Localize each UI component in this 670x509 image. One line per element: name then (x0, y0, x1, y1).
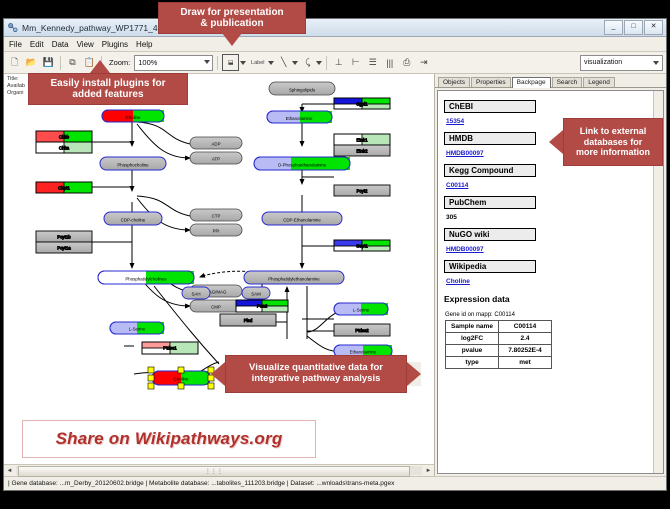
side-panel-tabs: Objects Properties Backpage Search Legen… (435, 74, 666, 88)
expr-val-type: met (499, 357, 552, 369)
expression-data-title: Expression data (444, 294, 647, 304)
svg-text:Ptdss2: Ptdss2 (355, 328, 369, 333)
db-header-wikipedia: Wikipedia (444, 260, 536, 273)
db-link-nugowiki[interactable]: HMDB00097 (446, 246, 647, 253)
svg-text:PPi: PPi (213, 229, 220, 234)
callout-plugins: Easily install plugins for added feature… (28, 73, 188, 105)
export-icon[interactable]: ⇥ (416, 55, 431, 70)
db-header-chebi: ChEBI (444, 100, 536, 113)
expr-key-sample: Sample name (446, 321, 499, 333)
svg-text:O-Phosphoethanolamine: O-Phosphoethanolamine (278, 163, 327, 168)
window-titlebar: Mm_Kennedy_pathway_WP1771_45176.gpml _ □… (4, 19, 666, 37)
zoom-select[interactable]: 100% (134, 55, 213, 71)
pathway-editor-pane: Title: Availab Organi (4, 74, 435, 476)
distribute-icon[interactable]: ||| (382, 55, 397, 70)
callout-link: Link to external databases for more info… (563, 118, 663, 166)
stack-icon[interactable]: ☰ (365, 55, 380, 70)
datanode-icon[interactable]: ⬓ (222, 54, 239, 71)
db-link-kegg[interactable]: C00114 (446, 182, 647, 189)
status-text: | Gene database: ...m_Derby_20120602.bri… (8, 480, 394, 487)
callout-draw: Draw for presentation & publication (158, 2, 306, 34)
svg-text:Sphingolipids: Sphingolipids (289, 88, 316, 93)
callout-visualize: Visualize quantitative data for integrat… (225, 355, 407, 393)
menu-data[interactable]: Data (52, 40, 69, 49)
label-icon[interactable]: Label (248, 55, 267, 70)
svg-text:Phosphocholine: Phosphocholine (117, 163, 149, 168)
db-value-pubchem: 305 (446, 214, 647, 221)
new-icon[interactable]: 🗋 (7, 55, 22, 70)
svg-text:Pcyt1a: Pcyt1a (57, 246, 71, 251)
expr-key-log2fc: log2FC (446, 333, 499, 345)
share-text: Share on Wikipathways.org (56, 429, 283, 449)
pathway-canvas[interactable]: Title: Availab Organi (4, 74, 434, 464)
print-icon[interactable]: ⎙ (399, 55, 414, 70)
chevron-down-icon[interactable] (268, 61, 274, 65)
expression-table: Sample name C00114 log2FC 2.4 pvalue 7.8… (445, 320, 552, 369)
svg-text:Pcyt2: Pcyt2 (357, 189, 369, 194)
svg-text:L-Serine: L-Serine (353, 308, 370, 313)
callout-link-arrow (549, 130, 563, 154)
expr-key-pvalue: pvalue (446, 345, 499, 357)
svg-text:Sgpl1: Sgpl1 (356, 102, 368, 107)
svg-text:Chkb: Chkb (59, 135, 70, 140)
chevron-down-icon (204, 60, 210, 64)
callout-plugins-arrow (90, 60, 110, 73)
hscroll-track[interactable]: ⋮⋮⋮ (16, 466, 422, 475)
svg-text:CDP-choline: CDP-choline (121, 218, 146, 223)
window-buttons: _ □ ✕ (604, 20, 663, 35)
share-banner: Share on Wikipathways.org (22, 420, 316, 458)
scroll-right-icon[interactable]: ► (423, 465, 434, 476)
menu-edit[interactable]: Edit (30, 40, 44, 49)
db-header-pubchem: PubChem (444, 196, 536, 209)
tab-objects[interactable]: Objects (438, 77, 470, 87)
db-header-hmdb: HMDB (444, 132, 536, 145)
svg-text:Chpt1: Chpt1 (58, 186, 70, 191)
svg-text:SAH: SAH (191, 292, 200, 297)
gene-id-line: Gene id on mapp: C00114 (445, 312, 647, 318)
expr-val-pvalue: 7.80252E-4 (499, 345, 552, 357)
svg-text:ATP: ATP (212, 157, 220, 162)
svg-text:Ethanolamine: Ethanolamine (286, 116, 313, 121)
status-bar: | Gene database: ...m_Derby_20120602.bri… (4, 476, 666, 490)
canvas-hscrollbar[interactable]: ◄ ⋮⋮⋮ ► (4, 464, 434, 476)
zoom-label: Zoom: (109, 58, 130, 67)
svg-text:Choline: Choline (126, 115, 141, 120)
db-header-kegg: Kegg Compound (444, 164, 536, 177)
tab-legend[interactable]: Legend (583, 77, 615, 87)
db-header-nugowiki: NuGO wiki (444, 228, 536, 241)
line-tool[interactable]: ╲ (276, 55, 298, 70)
interaction-tool[interactable]: ⤹ (300, 55, 322, 70)
db-link-wikipedia[interactable]: Choline (446, 278, 647, 285)
chevron-down-icon (653, 61, 659, 65)
visualization-value: visualization (584, 59, 622, 66)
svg-text:L-Serine: L-Serine (129, 327, 146, 332)
expr-val-log2fc: 2.4 (499, 333, 552, 345)
svg-text:CMP: CMP (211, 305, 221, 310)
menu-plugins[interactable]: Plugins (102, 40, 128, 49)
svg-text:Etnk2: Etnk2 (356, 149, 368, 154)
line-icon[interactable]: ╲ (276, 55, 291, 70)
hscroll-thumb[interactable]: ⋮⋮⋮ (18, 466, 410, 477)
open-icon[interactable]: 📂 (24, 55, 39, 70)
toolbar-separator-3 (217, 56, 218, 70)
expr-key-type: type (446, 357, 499, 369)
svg-text:Cept1: Cept1 (356, 244, 368, 249)
tab-backpage[interactable]: Backpage (512, 77, 551, 88)
table-row: Sample name C00114 (446, 321, 552, 333)
menubar: File Edit Data View Plugins Help (4, 37, 666, 52)
svg-text:Ethanolamine: Ethanolamine (350, 350, 377, 355)
svg-text:CTP: CTP (212, 214, 221, 219)
scroll-left-icon[interactable]: ◄ (4, 465, 15, 476)
app-icon (7, 22, 18, 33)
svg-text:Etnk1: Etnk1 (356, 138, 368, 143)
tab-properties[interactable]: Properties (471, 77, 511, 87)
svg-text:ADP: ADP (211, 142, 220, 147)
label-tool[interactable]: Label (248, 55, 274, 70)
chevron-down-icon[interactable] (240, 61, 246, 65)
svg-text:Pcyt1b: Pcyt1b (57, 235, 71, 240)
save-icon[interactable]: 💾 (41, 55, 56, 70)
zoom-value: 100% (138, 58, 157, 67)
callout-visualize-arrow-left (211, 362, 225, 386)
svg-text:Pisd: Pisd (244, 318, 253, 323)
svg-text:Choline: Choline (174, 377, 189, 382)
datanode-tool[interactable]: ⬓ (222, 54, 246, 71)
menu-view[interactable]: View (77, 40, 94, 49)
menu-file[interactable]: File (9, 40, 22, 49)
callout-draw-arrow (222, 33, 242, 46)
table-row: log2FC 2.4 (446, 333, 552, 345)
svg-text:Pemt: Pemt (257, 304, 268, 309)
expr-val-sample: C00114 (499, 321, 552, 333)
svg-text:SAM: SAM (251, 292, 261, 297)
interaction-icon[interactable]: ⤹ (300, 55, 315, 70)
table-row: pvalue 7.80252E-4 (446, 345, 552, 357)
tab-search[interactable]: Search (552, 77, 583, 87)
svg-text:CDP-Ethanolamine: CDP-Ethanolamine (283, 218, 321, 223)
svg-text:Ptdss1: Ptdss1 (163, 346, 177, 351)
align-left-icon[interactable]: ⊢ (348, 55, 363, 70)
toolbar-separator-1 (60, 56, 61, 70)
svg-text:Phosphatidylethanolamine: Phosphatidylethanolamine (268, 277, 320, 282)
visualization-select[interactable]: visualization (580, 55, 663, 71)
svg-text:Chka: Chka (59, 146, 70, 151)
callout-visualize-arrow-right (407, 362, 421, 386)
align-bottom-icon[interactable]: ⊥ (331, 55, 346, 70)
minimize-button[interactable]: _ (604, 20, 623, 35)
close-button[interactable]: ✕ (644, 20, 663, 35)
chevron-down-icon[interactable] (316, 61, 322, 65)
maximize-button[interactable]: □ (624, 20, 643, 35)
toolbar-separator-4 (326, 56, 327, 70)
chevron-down-icon[interactable] (292, 61, 298, 65)
table-row: type met (446, 357, 552, 369)
svg-text:Phosphatidylcholines: Phosphatidylcholines (125, 277, 167, 282)
copy-icon[interactable]: ⧉ (65, 55, 80, 70)
menu-help[interactable]: Help (136, 40, 152, 49)
